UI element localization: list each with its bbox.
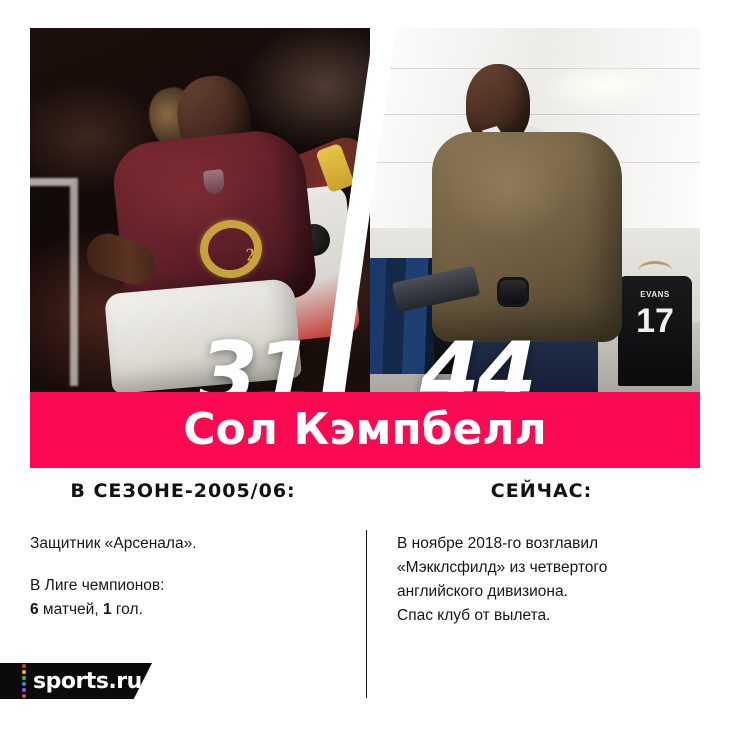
then-competition-label: В Лиге чемпионов: — [30, 577, 164, 594]
column-then-heading: В СЕЗОНЕ-2005/06: — [30, 480, 360, 502]
o2-sponsor-subscript: 2 — [245, 243, 263, 263]
column-now-heading: СЕЙЧАС: — [375, 480, 700, 502]
column-now: СЕЙЧАС: В ноябре 2018-го возглавил «Мэкк… — [375, 480, 700, 628]
then-line-1: Защитник «Арсенала». — [30, 532, 360, 556]
now-line-4: Спас клуб от вылета. — [397, 604, 700, 628]
column-then-body: Защитник «Арсенала». В Лиге чемпионов: 6… — [30, 532, 360, 622]
now-line-3: английского дивизиона. — [397, 580, 700, 604]
wristwatch-shape — [500, 280, 526, 304]
now-line-1: В ноябре 2018-го возглавил — [397, 532, 700, 556]
then-line-2: В Лиге чемпионов: 6 матчей, 1 гол. — [30, 574, 360, 622]
ceiling-light-shape — [537, 62, 671, 110]
text-columns: В СЕЗОНЕ-2005/06: Защитник «Арсенала». В… — [30, 480, 700, 660]
then-goals-word: гол. — [112, 601, 143, 618]
then-matches-word: матчей, — [39, 601, 103, 618]
then-matches-count: 6 — [30, 601, 39, 618]
evans-jersey: EVANS 17 — [618, 276, 692, 386]
now-line-2: «Мэкклсфилд» из четвертого — [397, 556, 700, 580]
jersey-number-text: 17 — [618, 302, 692, 341]
goalpost-shape — [30, 178, 78, 386]
infographic-card: 2 EVANS 17 — [0, 0, 730, 731]
player-name-text: Сол Кэмпбелл — [183, 408, 547, 452]
logo-text: sports.ru — [33, 669, 142, 694]
manager-sweater-shape — [432, 132, 622, 342]
column-now-body: В ноябре 2018-го возглавил «Мэкклсфилд» … — [375, 532, 700, 628]
then-goals-count: 1 — [103, 601, 112, 618]
right-number: 44 — [420, 331, 534, 392]
jersey-name-text: EVANS — [618, 290, 692, 299]
logo-dots-icon — [22, 664, 26, 698]
player-name-banner: Сол Кэмпбелл — [30, 392, 700, 468]
column-then: В СЕЗОНЕ-2005/06: Защитник «Арсенала». В… — [30, 480, 360, 640]
photo-comparison-block: 2 EVANS 17 — [30, 28, 700, 392]
column-divider — [366, 530, 367, 698]
sports-ru-logo[interactable]: sports.ru — [0, 663, 152, 699]
left-number: 31 — [198, 331, 312, 392]
